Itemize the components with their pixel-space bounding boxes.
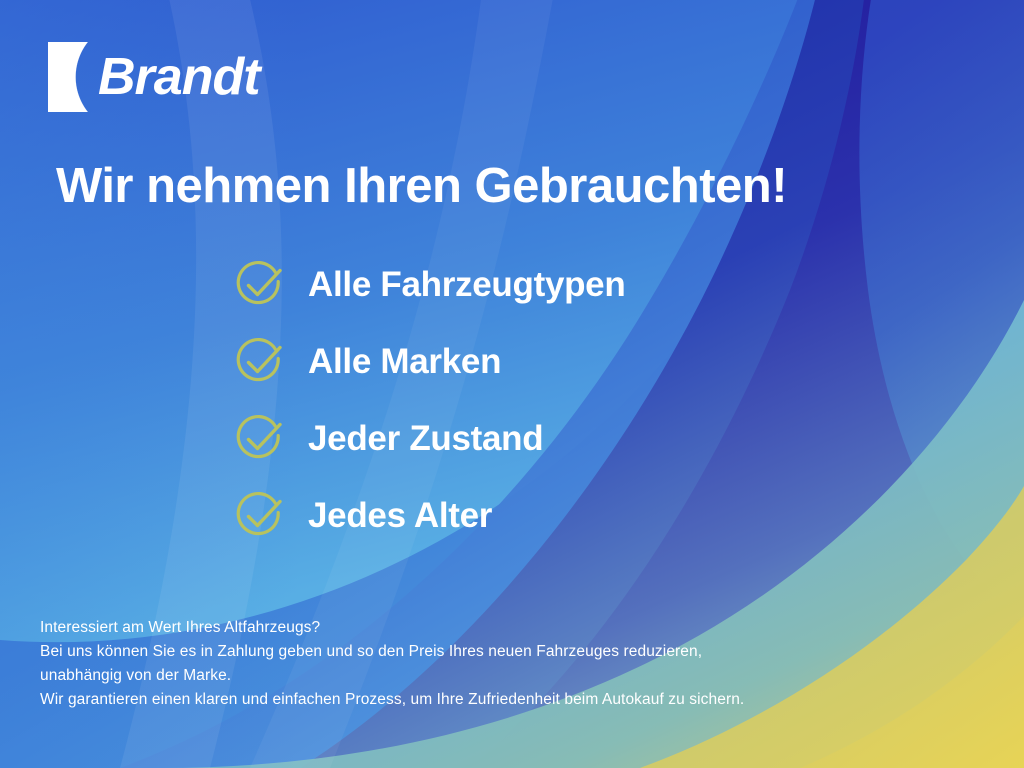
list-item-label: Jedes Alter (308, 496, 492, 536)
list-item-label: Jeder Zustand (308, 419, 543, 459)
check-circle-icon (234, 336, 286, 388)
headline: Wir nehmen Ihren Gebrauchten! (56, 158, 787, 214)
list-item: Alle Fahrzeugtypen (234, 258, 625, 312)
brand-logo[interactable]: Brandt (48, 42, 260, 112)
check-circle-icon (234, 413, 286, 465)
description-paragraph: Interessiert am Wert Ihres Altfahrzeugs?… (40, 616, 744, 712)
description-line-2: Bei uns können Sie es in Zahlung geben u… (40, 640, 744, 664)
list-item-label: Alle Marken (308, 342, 501, 382)
check-circle-icon (234, 259, 286, 311)
promo-banner: Brandt Wir nehmen Ihren Gebrauchten! All… (0, 0, 1024, 768)
description-line-4: Wir garantieren einen klaren und einfach… (40, 688, 744, 712)
description-line-1: Interessiert am Wert Ihres Altfahrzeugs? (40, 616, 744, 640)
list-item: Alle Marken (234, 335, 625, 389)
check-circle-icon (234, 490, 286, 542)
list-item-label: Alle Fahrzeugtypen (308, 265, 625, 305)
brand-name: Brandt (98, 51, 260, 103)
feature-list: Alle Fahrzeugtypen Alle Marken Jeder Zus… (234, 258, 625, 543)
description-line-3: unabhängig von der Marke. (40, 664, 744, 688)
bracket-crescent-logo-icon (48, 42, 92, 112)
list-item: Jeder Zustand (234, 412, 625, 466)
list-item: Jedes Alter (234, 489, 625, 543)
